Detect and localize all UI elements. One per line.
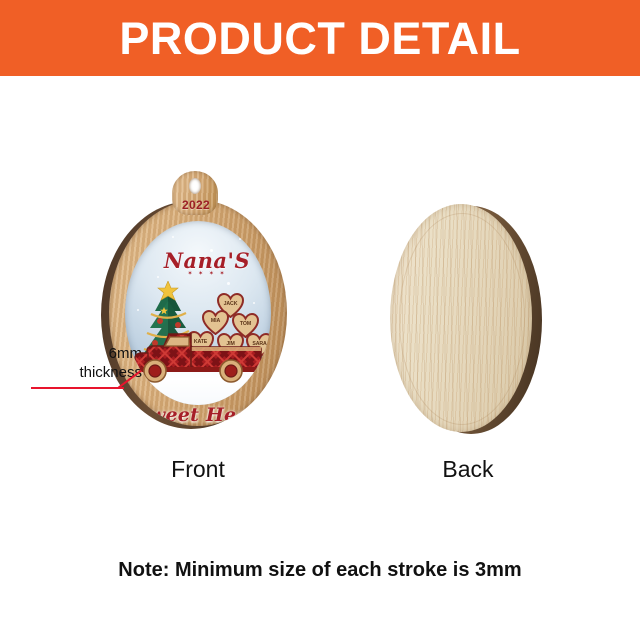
ornament-title-dots: ✶ ✶ ✶ ✶ [109,270,287,277]
annotation-underline [31,387,124,389]
heart-label: JACK [217,301,244,307]
ornament-footer-script: Sweet Hearts [109,404,287,426]
back-wood-surface [390,204,532,432]
caption-front: Front [118,456,278,483]
back-sheen [399,213,526,425]
hanging-hole [189,178,201,194]
product-stage: JACK MIA TOM [0,76,640,640]
ornament-back [388,198,548,438]
note-text: Note: Minimum size of each stroke is 3mm [0,559,640,582]
snowflake-icon [145,243,148,246]
snowflake-icon [172,236,174,238]
snowflake-icon [239,238,241,240]
ornament-year: 2022 [98,198,294,212]
header-bar: PRODUCT DETAIL [0,0,640,76]
snowflake-icon [227,282,230,285]
heart-label: MIA [202,318,229,324]
page-title: PRODUCT DETAIL [119,16,520,61]
snowflake-icon [137,309,139,311]
pickup-truck-icon [131,325,267,383]
caption-back: Back [388,456,548,483]
